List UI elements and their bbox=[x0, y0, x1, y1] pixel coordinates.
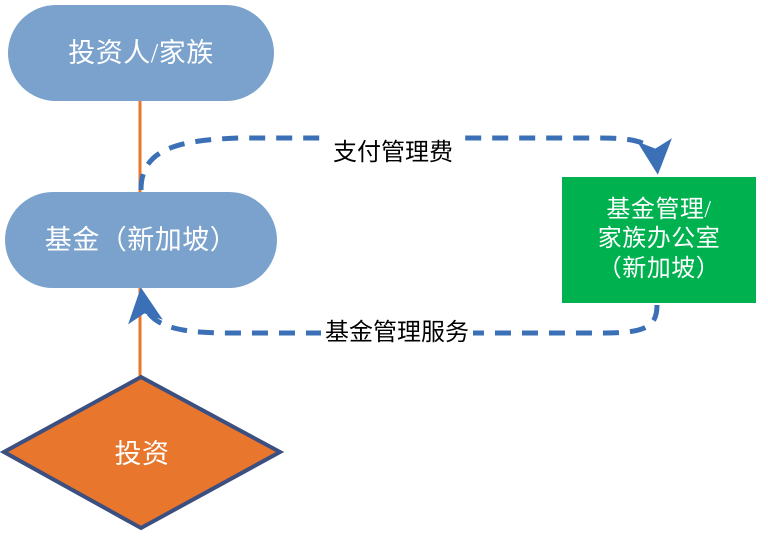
node-fund[interactable]: 基金（新加坡） bbox=[5, 192, 277, 288]
node-fund-label: 基金（新加坡） bbox=[45, 224, 238, 257]
node-investment-label: 投资 bbox=[115, 438, 170, 471]
edge-label-fund-management-service: 基金管理服务 bbox=[321, 312, 473, 347]
node-investor[interactable]: 投资人/家族 bbox=[8, 5, 274, 101]
node-fund-manager-label: 基金管理/ 家族办公室 （新加坡） bbox=[598, 196, 721, 284]
edge-label-pay-management-fee: 支付管理费 bbox=[329, 132, 457, 167]
node-investor-label: 投资人/家族 bbox=[68, 37, 214, 70]
node-investment[interactable]: 投资 bbox=[2, 375, 282, 533]
node-fund-manager[interactable]: 基金管理/ 家族办公室 （新加坡） bbox=[562, 177, 756, 303]
